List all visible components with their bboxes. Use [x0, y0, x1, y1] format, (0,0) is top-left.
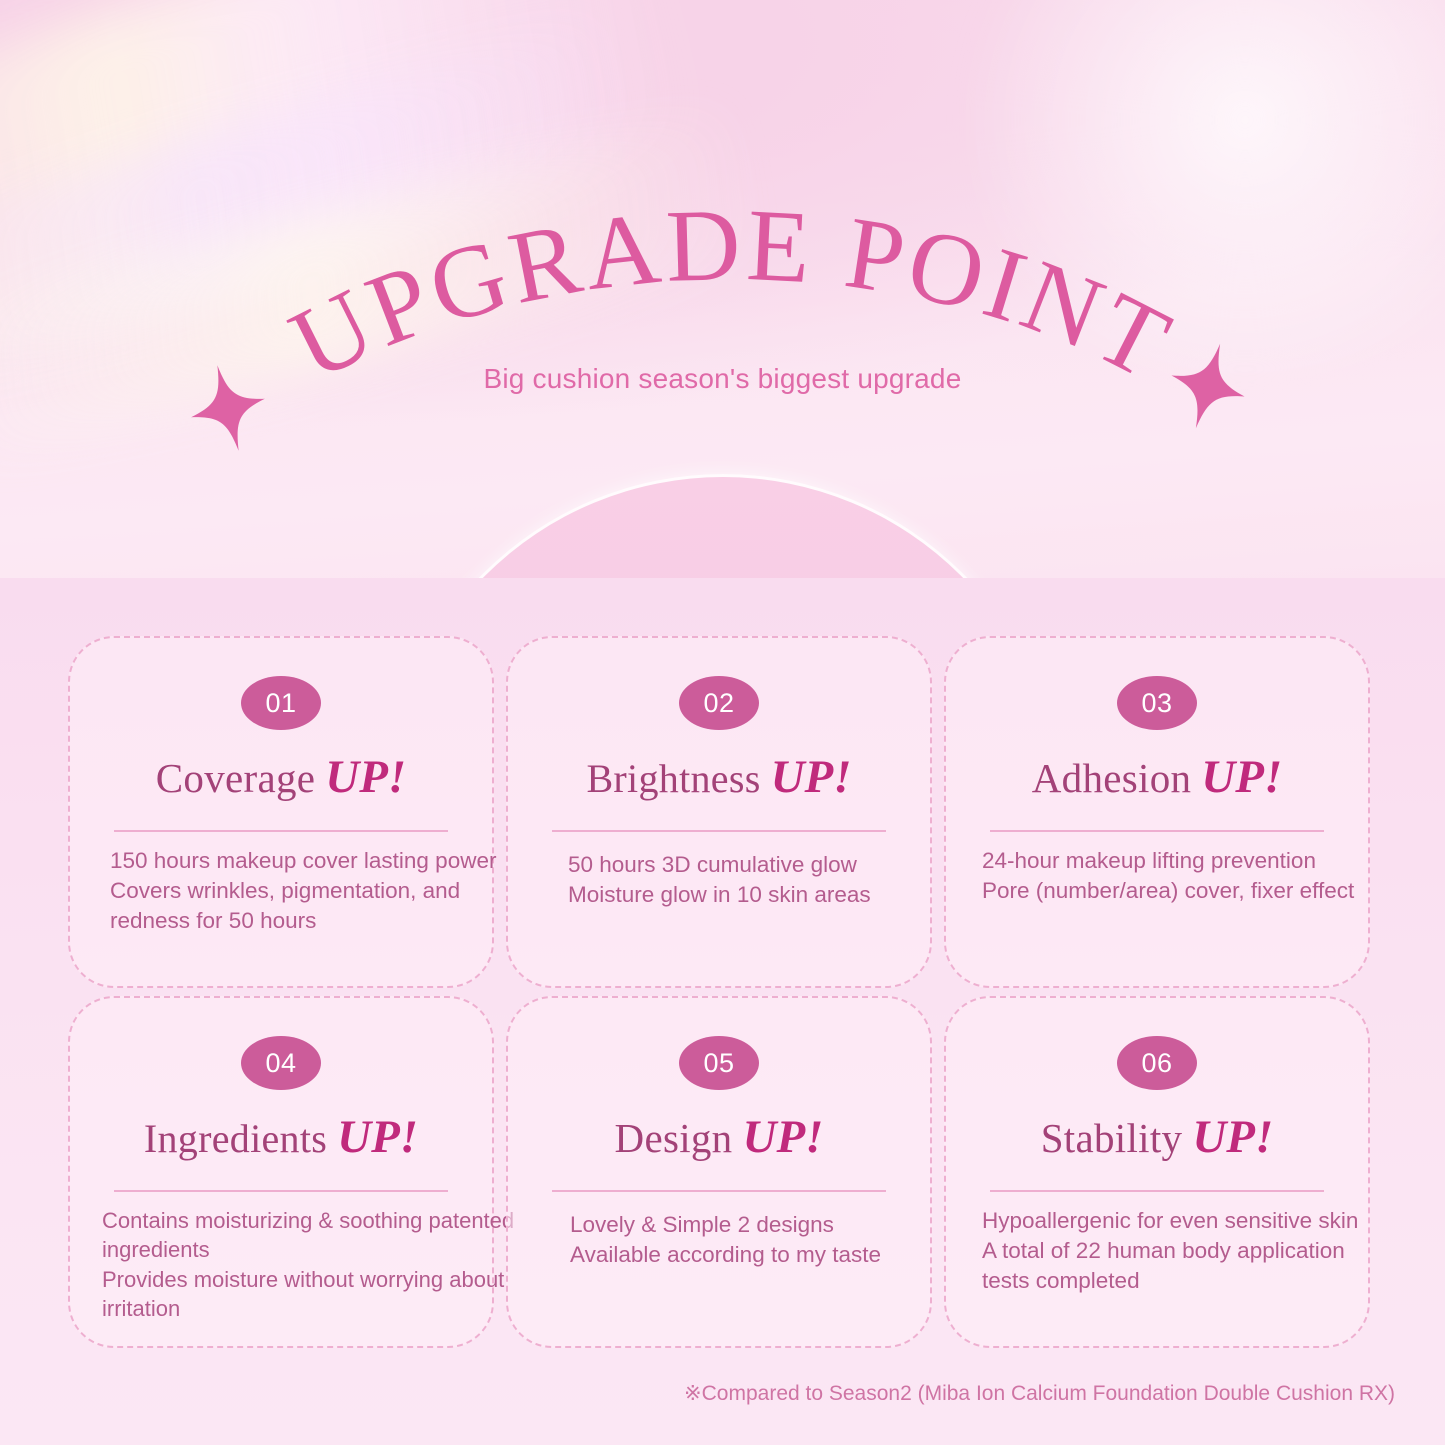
card-title: IngredientsUP! — [104, 1110, 458, 1164]
card-description-line: Lovely & Simple 2 designs — [570, 1210, 896, 1240]
card-title-label: Stability — [1041, 1115, 1183, 1161]
card-description-line: Hypoallergenic for even sensitive skin — [982, 1206, 1334, 1236]
card-divider — [114, 1190, 448, 1192]
card-description-line: Contains moisturizing & soothing patente… — [102, 1206, 458, 1235]
card-title: StabilityUP! — [980, 1110, 1334, 1164]
upgrade-points-section: 01 CoverageUP! 150 hours makeup cover la… — [0, 578, 1445, 1445]
sparkle-star-left-icon — [186, 360, 270, 456]
card-number-badge: 02 — [679, 676, 759, 730]
card-number-badge: 04 — [241, 1036, 321, 1090]
card-title-label: Adhesion — [1032, 755, 1192, 801]
card-divider — [552, 830, 886, 832]
card-number-badge: 05 — [679, 1036, 759, 1090]
card-title-label: Brightness — [586, 756, 760, 801]
badge-container: 02 — [542, 676, 896, 736]
card-description-line: irritation — [102, 1294, 458, 1323]
badge-container: 03 — [980, 676, 1334, 736]
card-divider — [990, 1190, 1324, 1192]
card-description-line: Covers wrinkles, pigmentation, and — [110, 876, 458, 906]
card-title: DesignUP! — [542, 1110, 896, 1164]
card-title-up: UP! — [1201, 751, 1282, 803]
card-description-line: ingredients — [102, 1235, 458, 1264]
upgrade-card-design[interactable]: 05 DesignUP! Lovely & Simple 2 designs A… — [506, 996, 932, 1348]
card-title: BrightnessUP! — [542, 750, 896, 804]
upgrade-point-page: UPGRADE POINT Big cushion season's bigge… — [0, 0, 1445, 1445]
badge-container: 01 — [104, 676, 458, 736]
card-title: CoverageUP! — [104, 750, 458, 804]
upgrade-cards-grid: 01 CoverageUP! 150 hours makeup cover la… — [68, 636, 1384, 1348]
card-description-line: Pore (number/area) cover, fixer effect — [982, 876, 1334, 906]
badge-container: 06 — [980, 1036, 1334, 1096]
badge-container: 04 — [104, 1036, 458, 1096]
card-description: 24-hour makeup lifting prevention Pore (… — [982, 846, 1334, 906]
card-description: Lovely & Simple 2 designs Available acco… — [570, 1210, 896, 1270]
card-title-up: UP! — [771, 751, 852, 803]
card-number-badge: 06 — [1117, 1036, 1197, 1090]
upgrade-card-coverage[interactable]: 01 CoverageUP! 150 hours makeup cover la… — [68, 636, 494, 988]
card-number-badge: 03 — [1117, 676, 1197, 730]
card-description-line: 150 hours makeup cover lasting power — [110, 846, 458, 876]
card-description-line: Moisture glow in 10 skin areas — [568, 880, 896, 910]
card-description-line: Available according to my taste — [570, 1240, 896, 1270]
hero-banner: UPGRADE POINT Big cushion season's bigge… — [0, 0, 1445, 582]
card-description-line: A total of 22 human body application — [982, 1236, 1334, 1266]
card-title-up: UP! — [325, 751, 406, 803]
card-description: 150 hours makeup cover lasting power Cov… — [110, 846, 458, 936]
card-divider — [990, 830, 1324, 832]
card-description: Contains moisturizing & soothing patente… — [102, 1206, 458, 1323]
upgrade-card-ingredients[interactable]: 04 IngredientsUP! Contains moisturizing … — [68, 996, 494, 1348]
card-description: 50 hours 3D cumulative glow Moisture glo… — [568, 850, 896, 910]
card-divider — [552, 1190, 886, 1192]
card-description: Hypoallergenic for even sensitive skin A… — [982, 1206, 1334, 1296]
upgrade-card-brightness[interactable]: 02 BrightnessUP! 50 hours 3D cumulative … — [506, 636, 932, 988]
sparkle-star-right-icon — [1166, 338, 1250, 434]
upgrade-card-adhesion[interactable]: 03 AdhesionUP! 24-hour makeup lifting pr… — [944, 636, 1370, 988]
card-description-line: redness for 50 hours — [110, 906, 458, 936]
badge-container: 05 — [542, 1036, 896, 1096]
card-title-label: Design — [615, 1115, 733, 1161]
upgrade-card-stability[interactable]: 06 StabilityUP! Hypoallergenic for even … — [944, 996, 1370, 1348]
card-description-line: Provides moisture without worrying about — [102, 1265, 458, 1294]
card-description-line: tests completed — [982, 1266, 1334, 1296]
card-title: AdhesionUP! — [980, 750, 1334, 804]
card-title-label: Coverage — [156, 755, 316, 801]
card-title-up: UP! — [337, 1111, 418, 1163]
footnote: ※Compared to Season2 (Miba Ion Calcium F… — [684, 1381, 1395, 1406]
card-description-line: 24-hour makeup lifting prevention — [982, 846, 1334, 876]
card-title-up: UP! — [743, 1111, 824, 1163]
card-title-up: UP! — [1192, 1111, 1273, 1163]
card-divider — [114, 830, 448, 832]
card-number-badge: 01 — [241, 676, 321, 730]
card-title-label: Ingredients — [144, 1116, 327, 1161]
card-description-line: 50 hours 3D cumulative glow — [568, 850, 896, 880]
dome-shape — [384, 474, 1062, 582]
